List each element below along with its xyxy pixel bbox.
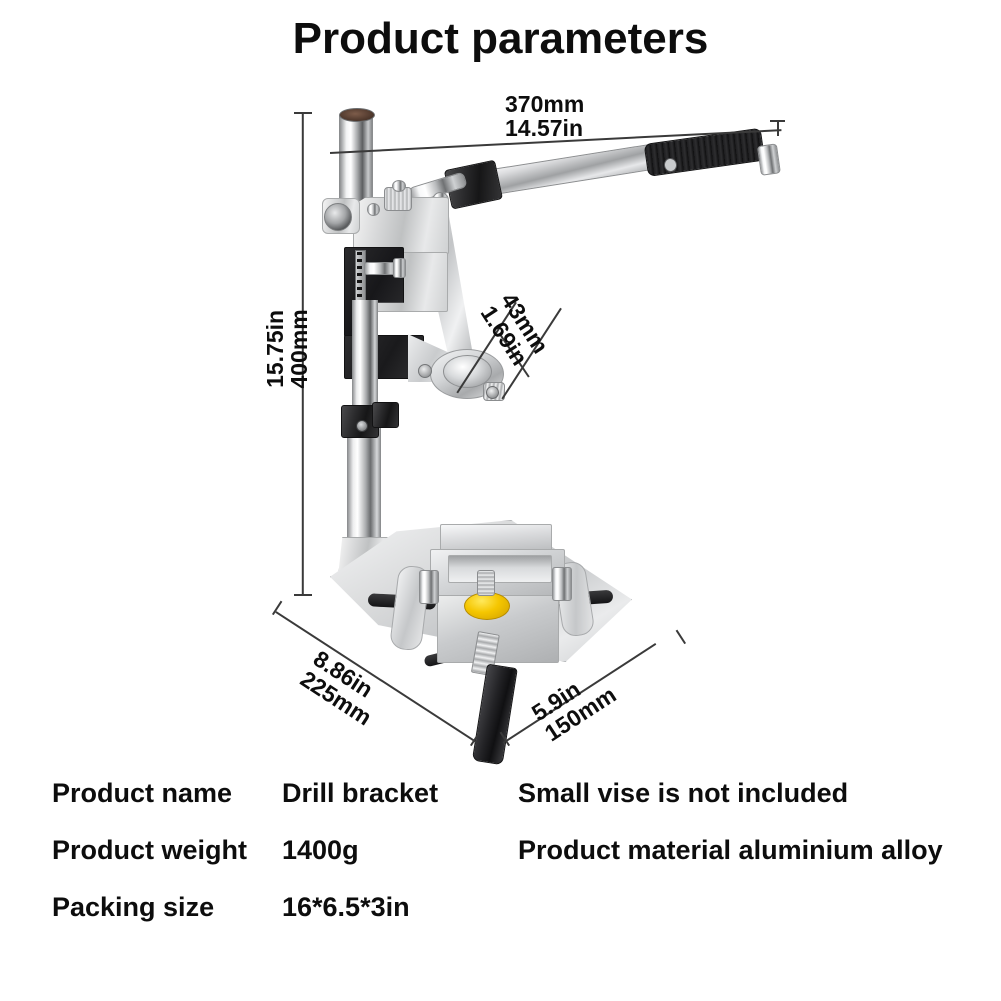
spec-note-product-material: Product material aluminium alloy <box>518 835 943 866</box>
dimension-metric-400mm: 400mm <box>288 269 312 429</box>
collar-clamp-screw-head <box>486 386 499 399</box>
dimension-cap-base-width-right <box>676 630 686 644</box>
spec-value-product-name: Drill bracket <box>282 778 438 809</box>
dimension-label-handle-length: 370mm 14.57in <box>505 93 584 141</box>
dimension-label-overall-height: 15.75in 400mm <box>264 269 312 429</box>
vise-yellow-knob <box>464 592 510 620</box>
spec-note-vise-not-included: Small vise is not included <box>518 778 848 809</box>
dimension-cap-handle-right <box>777 120 779 136</box>
depth-stop-pin-head <box>393 258 406 278</box>
spec-label-product-weight: Product weight <box>52 835 247 866</box>
post-top-cap <box>339 108 375 122</box>
head-shoulder-screw <box>367 203 380 216</box>
dimension-imperial-1575in: 15.75in <box>262 310 288 388</box>
drill-stand-illustration: 370mm 14.57in 15.75in 400mm 43mm 1.69in … <box>0 0 1001 780</box>
vise-knob-screw <box>477 570 495 596</box>
dimension-cap-height-top <box>294 112 312 114</box>
vise-handle <box>472 664 518 766</box>
vise-bolt-left <box>419 570 439 604</box>
depth-stop-collar-screw <box>356 420 368 432</box>
spec-value-product-weight: 1400g <box>282 835 359 866</box>
depth-stop-collar-tab <box>372 402 399 428</box>
head-lock-knob-stem <box>392 180 406 192</box>
product-parameters-page: Product parameters <box>0 0 1001 1001</box>
dimension-cap-height-bottom <box>294 594 312 596</box>
head-left-bore <box>324 203 352 231</box>
handle-end-cap <box>757 143 781 175</box>
spec-value-packing-size: 16*6.5*3in <box>282 892 410 923</box>
dimension-imperial-1457in: 14.57in <box>505 117 584 141</box>
spec-table: Product name Drill bracket Small vise is… <box>0 778 1001 1001</box>
vise-slide-track <box>448 555 552 583</box>
collar-arm-screw <box>418 364 432 378</box>
spec-label-packing-size: Packing size <box>52 892 214 923</box>
dimension-cap-handle-right-bar <box>770 120 785 122</box>
vise-bolt-right <box>552 567 572 601</box>
dimension-metric-370mm: 370mm <box>505 93 584 117</box>
spec-label-product-name: Product name <box>52 778 232 809</box>
